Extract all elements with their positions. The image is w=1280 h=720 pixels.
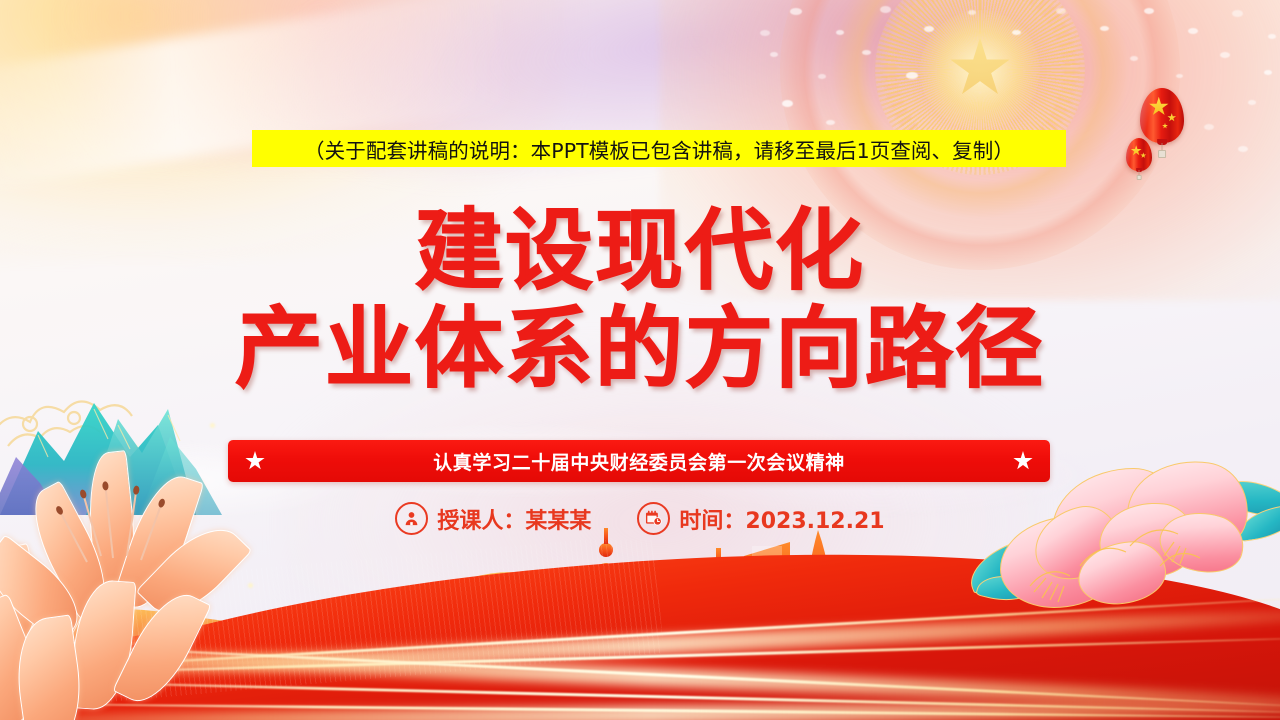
- person-icon: [395, 502, 428, 535]
- star-icon-left: [245, 451, 265, 471]
- page-title-line-2: 产业体系的方向路径: [0, 303, 1280, 395]
- date-info: 时间：2023.12.21: [637, 502, 884, 535]
- page-title-line-1: 建设现代化: [0, 205, 1280, 297]
- speaker-notes-notice-bar: （关于配套讲稿的说明：本PPT模板已包含讲稿，请移至最后1页查阅、复制）: [252, 130, 1066, 167]
- speaker-notes-notice-text: （关于配套讲稿的说明：本PPT模板已包含讲稿，请移至最后1页查阅、复制）: [304, 134, 1014, 164]
- subtitle-banner-text: 认真学习二十届中央财经委员会第一次会议精神: [433, 448, 845, 475]
- page-title: 建设现代化 产业体系的方向路径: [0, 205, 1280, 394]
- calendar-clock-icon: [637, 502, 670, 535]
- star-icon-right: [1013, 451, 1033, 471]
- presentation-title-slide: （关于配套讲稿的说明：本PPT模板已包含讲稿，请移至最后1页查阅、复制） 建设现…: [0, 0, 1280, 720]
- date-text: 时间：2023.12.21: [679, 503, 884, 535]
- subtitle-banner: 认真学习二十届中央财经委员会第一次会议精神: [228, 440, 1050, 482]
- meta-row: 授课人：某某某 时间：2023.12.21: [0, 502, 1280, 535]
- presenter-text: 授课人：某某某: [437, 503, 591, 535]
- hot-air-balloon-large-icon: [1140, 88, 1184, 158]
- presenter-info: 授课人：某某某: [395, 502, 591, 535]
